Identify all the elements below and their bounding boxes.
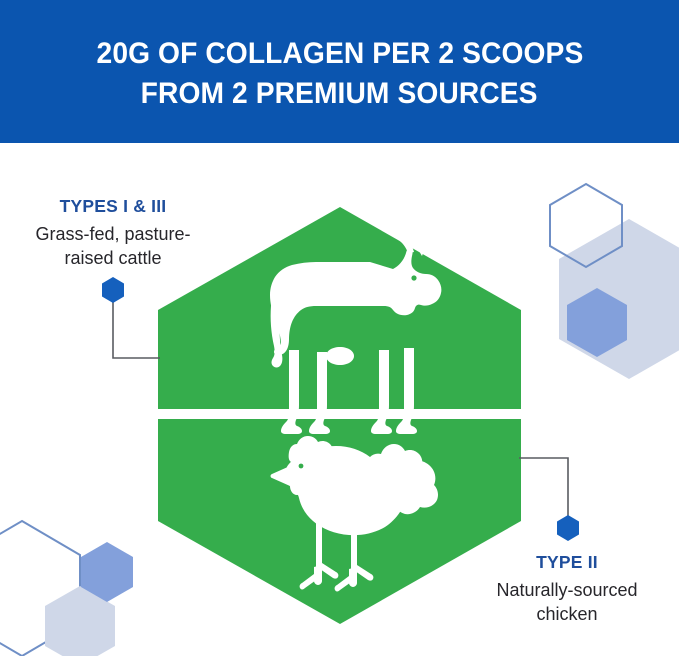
- callout-left-description-line-1: Grass-fed, pasture-: [6, 223, 220, 247]
- connector-line-right: [519, 458, 568, 518]
- connector-line-left: [113, 300, 160, 358]
- collagen-sources-infographic: 20G OF COLLAGEN PER 2 SCOOPS FROM 2 PREM…: [0, 0, 679, 656]
- connector-node-left-icon: [102, 277, 124, 303]
- callout-right-description-line-2: chicken: [460, 603, 674, 627]
- callout-type-ii: TYPE II Naturally-sourced chicken: [460, 552, 674, 627]
- callout-left-description-line-2: raised cattle: [6, 247, 220, 271]
- callout-right-title: TYPE II: [460, 552, 674, 574]
- callout-right-description-line-1: Naturally-sourced: [460, 579, 674, 603]
- connector-node-right-icon: [557, 515, 579, 541]
- callout-types-i-iii: TYPES I & III Grass-fed, pasture- raised…: [6, 196, 220, 271]
- callout-left-title: TYPES I & III: [6, 196, 220, 218]
